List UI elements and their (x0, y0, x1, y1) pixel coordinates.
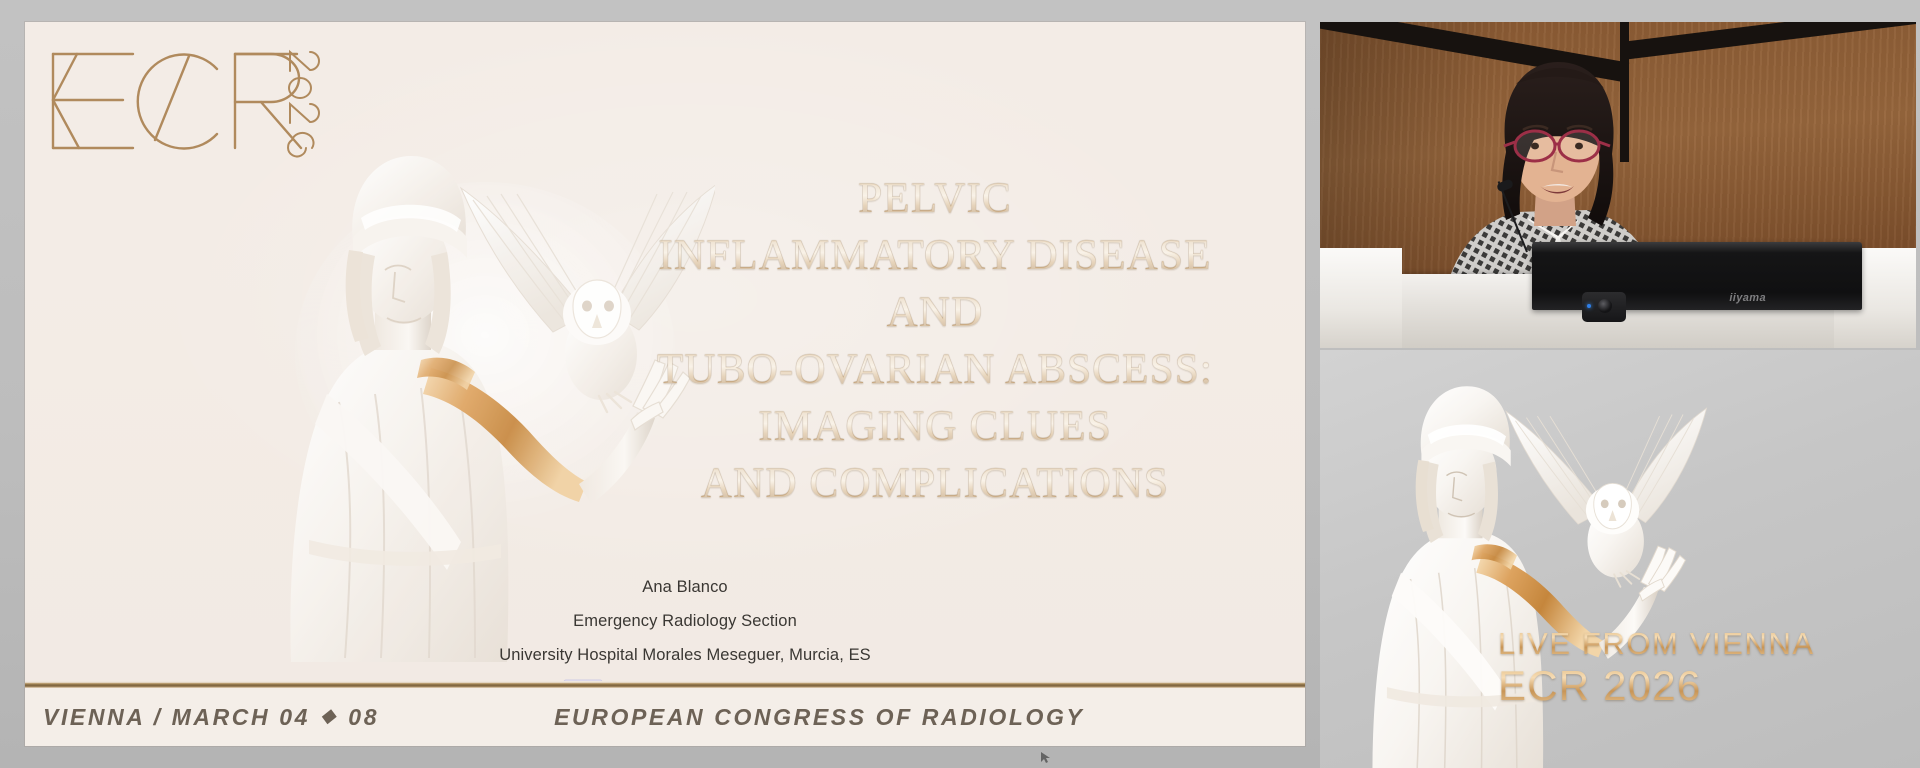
lectern-wing-left (1320, 248, 1402, 348)
title-line-5: IMAGING CLUES (585, 398, 1285, 455)
footer-location-date: VIENNA / MARCH 04 ◆ 08 (43, 704, 379, 731)
lectern-monitor: iiyama (1532, 242, 1862, 310)
monitor-brand-label: iiyama (1729, 292, 1766, 304)
footer-location-date-text: VIENNA / MARCH 04 (43, 704, 310, 730)
ecr-2026-label: ECR 2026 (1498, 665, 1815, 707)
footer-congress-name: EUROPEAN CONGRESS OF RADIOLOGY (554, 704, 1084, 731)
footer-gold-rule (25, 681, 1305, 688)
diamond-separator-icon: ◆ (321, 704, 337, 726)
title-line-2: INFLAMMATORY DISEASE (585, 227, 1285, 284)
author-affiliation: University Hospital Morales Meseguer, Mu… (325, 638, 1045, 672)
screen-root: PELVIC INFLAMMATORY DISEASE AND TUBO-OVA… (0, 0, 1920, 768)
author-name: Ana Blanco (325, 570, 1045, 604)
live-from-vienna-label: LIVE FROM VIENNA (1498, 628, 1815, 659)
title-line-6: AND COMPLICATIONS (585, 455, 1285, 512)
live-branding-text: LIVE FROM VIENNA ECR 2026 (1498, 628, 1815, 707)
footer-date-end: 08 (348, 704, 379, 730)
branding-video-panel[interactable]: LIVE FROM VIENNA ECR 2026 (1320, 350, 1920, 768)
webcam-icon (1582, 292, 1626, 322)
title-line-1: PELVIC (585, 170, 1285, 227)
presentation-slide[interactable]: PELVIC INFLAMMATORY DISEASE AND TUBO-OVA… (25, 22, 1305, 746)
title-line-3: AND (585, 284, 1285, 341)
ecr-2026-logo (39, 36, 339, 161)
author-section: Emergency Radiology Section (325, 604, 1045, 638)
title-line-4: TUBO-OVARIAN ABSCESS: (585, 341, 1285, 398)
speaker-video-panel[interactable]: iiyama (1320, 22, 1916, 348)
slide-footer: VIENNA / MARCH 04 ◆ 08 EUROPEAN CONGRESS… (25, 688, 1305, 746)
slide-title: PELVIC INFLAMMATORY DISEASE AND TUBO-OVA… (585, 170, 1285, 512)
mouse-cursor-icon (1040, 751, 1053, 764)
